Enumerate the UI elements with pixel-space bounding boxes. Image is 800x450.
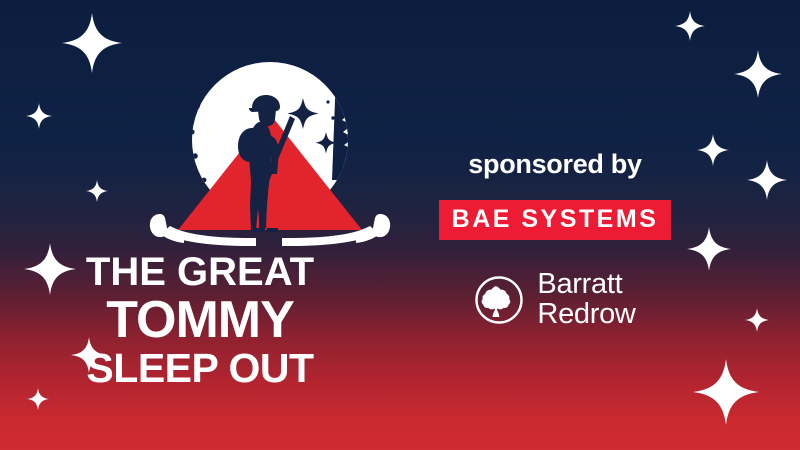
title-line-2: TOMMY <box>0 294 400 346</box>
tree-in-circle-icon <box>474 275 524 325</box>
barratt-redrow-logo: Barratt Redrow <box>400 270 710 329</box>
sparkle-star <box>62 13 122 73</box>
sleep-out-artwork <box>140 44 400 256</box>
redrow-word: Redrow <box>537 300 635 330</box>
sparkle-star <box>745 308 769 332</box>
promotional-banner: THE GREAT TOMMY SLEEP OUT sponsored by B… <box>0 0 800 450</box>
title-line-1: THE GREAT <box>0 252 400 292</box>
title-line-3: SLEEP OUT <box>0 348 400 389</box>
sparkle-star <box>693 359 759 425</box>
sparkle-star <box>86 180 108 202</box>
barratt-word: Barratt <box>537 270 635 300</box>
sparkle-star <box>734 50 782 98</box>
sponsored-by-label: sponsored by <box>400 150 710 178</box>
bae-systems-logo: BAE SYSTEMS <box>439 200 672 240</box>
sparkle-star <box>747 160 787 200</box>
sparkle-star <box>26 103 52 129</box>
sponsor-section: sponsored by BAE SYSTEMS Barratt Redrow <box>400 150 710 330</box>
event-title: THE GREAT TOMMY SLEEP OUT <box>0 252 400 389</box>
barratt-redrow-wordmark: Barratt Redrow <box>537 270 635 329</box>
sparkle-star <box>675 11 705 41</box>
sparkle-star <box>27 388 49 410</box>
bae-systems-wordmark: BAE SYSTEMS <box>452 207 659 232</box>
